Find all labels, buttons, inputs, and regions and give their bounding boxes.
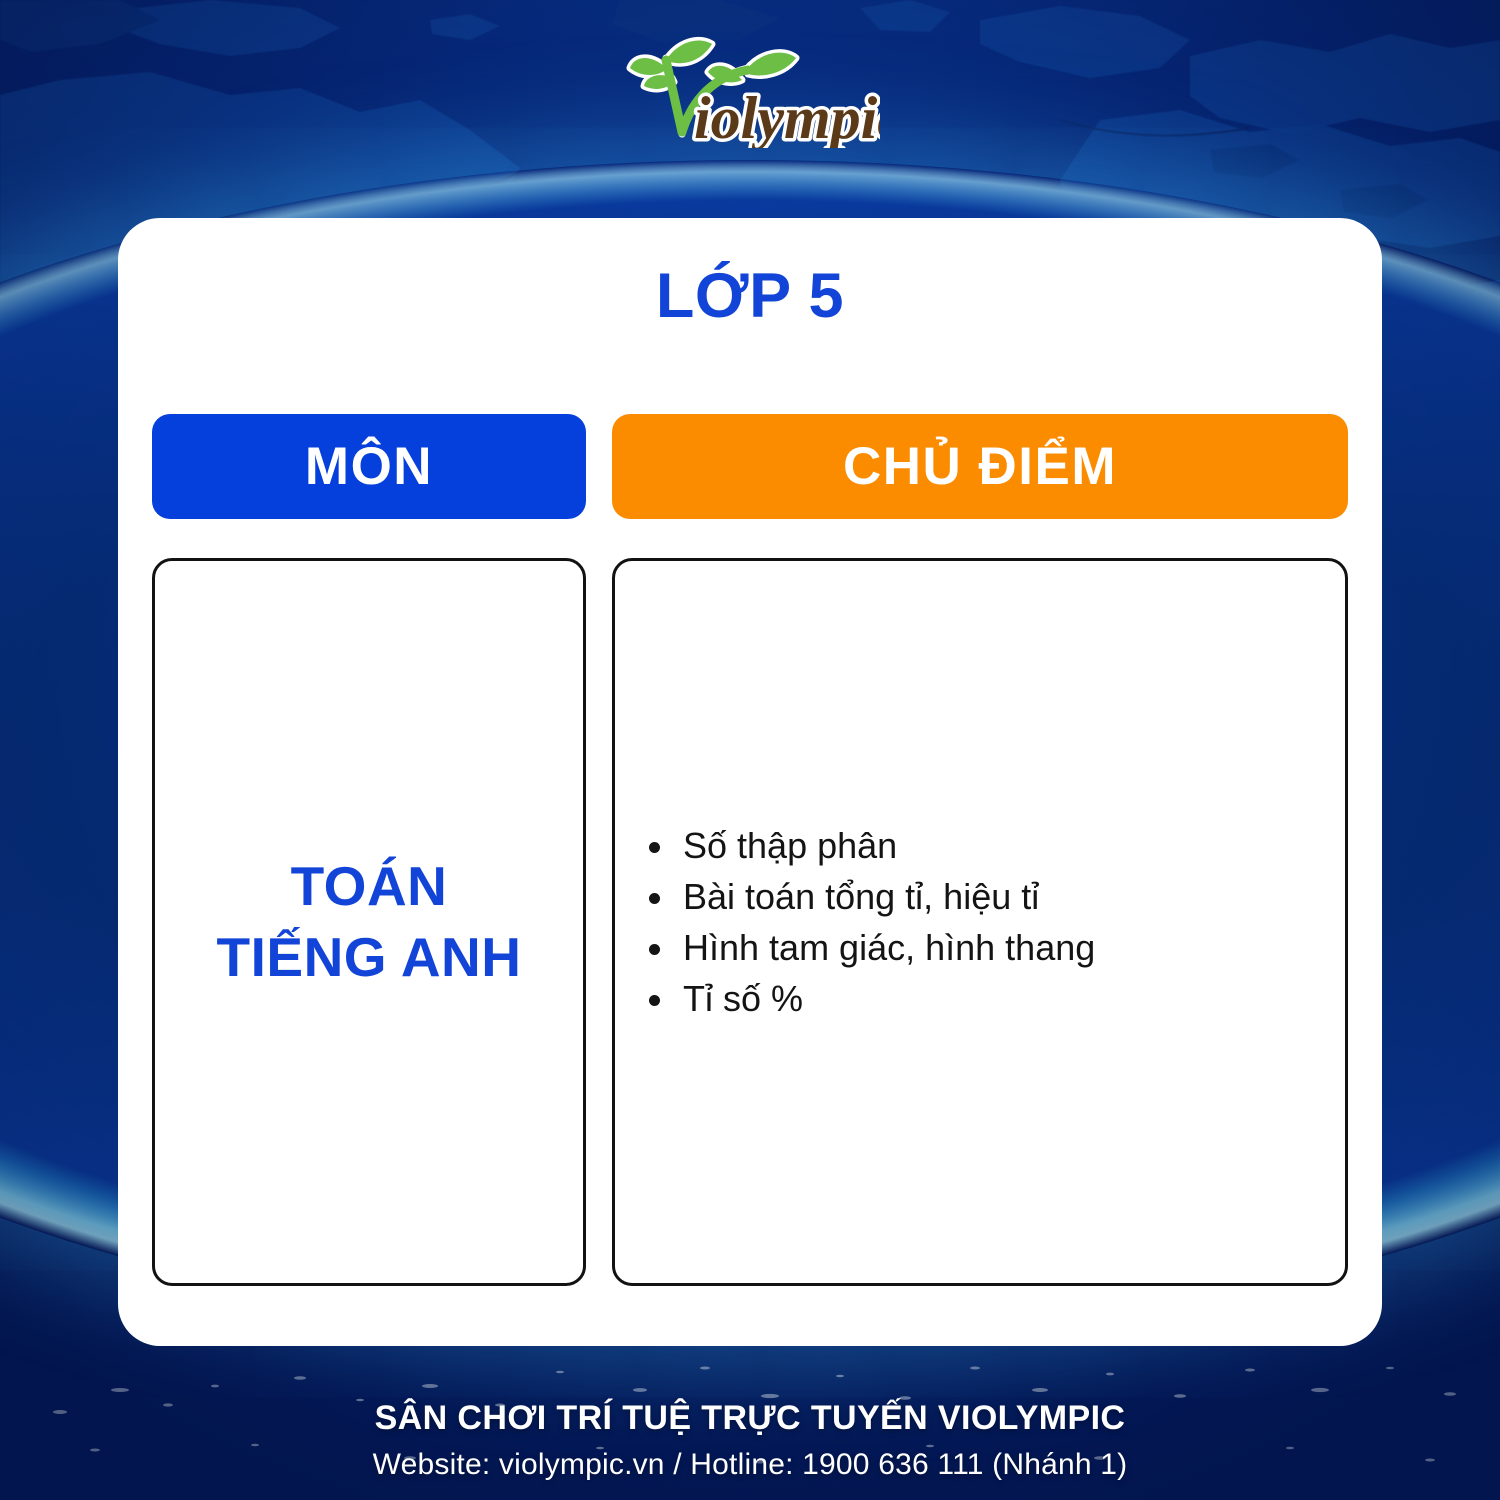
poster-root: iolympic LỚP 5 MÔN CHỦ ĐIỂM TOÁN TIẾNG A… xyxy=(0,0,1500,1500)
list-item: Tỉ số % xyxy=(641,973,1345,1024)
content-card: LỚP 5 MÔN CHỦ ĐIỂM TOÁN TIẾNG ANH Số thậ… xyxy=(118,218,1382,1346)
list-item: Số thập phân xyxy=(641,820,1345,871)
logo-wordmark: iolympic xyxy=(694,85,880,148)
footer-tagline: SÂN CHƠI TRÍ TUỆ TRỰC TUYẾN VIOLYMPIC xyxy=(0,1399,1500,1438)
subject-names: TOÁN TIẾNG ANH xyxy=(217,851,522,994)
subject-line-1: TOÁN xyxy=(217,851,522,923)
topics-list: Số thập phân Bài toán tổng tỉ, hiệu tỉ H… xyxy=(615,820,1345,1024)
footer: SÂN CHƠI TRÍ TUỆ TRỰC TUYẾN VIOLYMPIC We… xyxy=(0,1399,1500,1482)
page-title: LỚP 5 xyxy=(118,260,1382,332)
list-item: Bài toán tổng tỉ, hiệu tỉ xyxy=(641,871,1345,922)
subject-line-2: TIẾNG ANH xyxy=(217,922,522,994)
column-header-subject: MÔN xyxy=(152,414,586,519)
subject-box: TOÁN TIẾNG ANH xyxy=(152,558,586,1286)
column-header-topic: CHỦ ĐIỂM xyxy=(612,414,1348,519)
violympic-sprout-logo: iolympic xyxy=(620,26,880,148)
topics-box: Số thập phân Bài toán tổng tỉ, hiệu tỉ H… xyxy=(612,558,1348,1286)
list-item: Hình tam giác, hình thang xyxy=(641,922,1345,973)
brand-logo: iolympic xyxy=(0,22,1500,152)
footer-contact: Website: violympic.vn / Hotline: 1900 63… xyxy=(0,1448,1500,1482)
